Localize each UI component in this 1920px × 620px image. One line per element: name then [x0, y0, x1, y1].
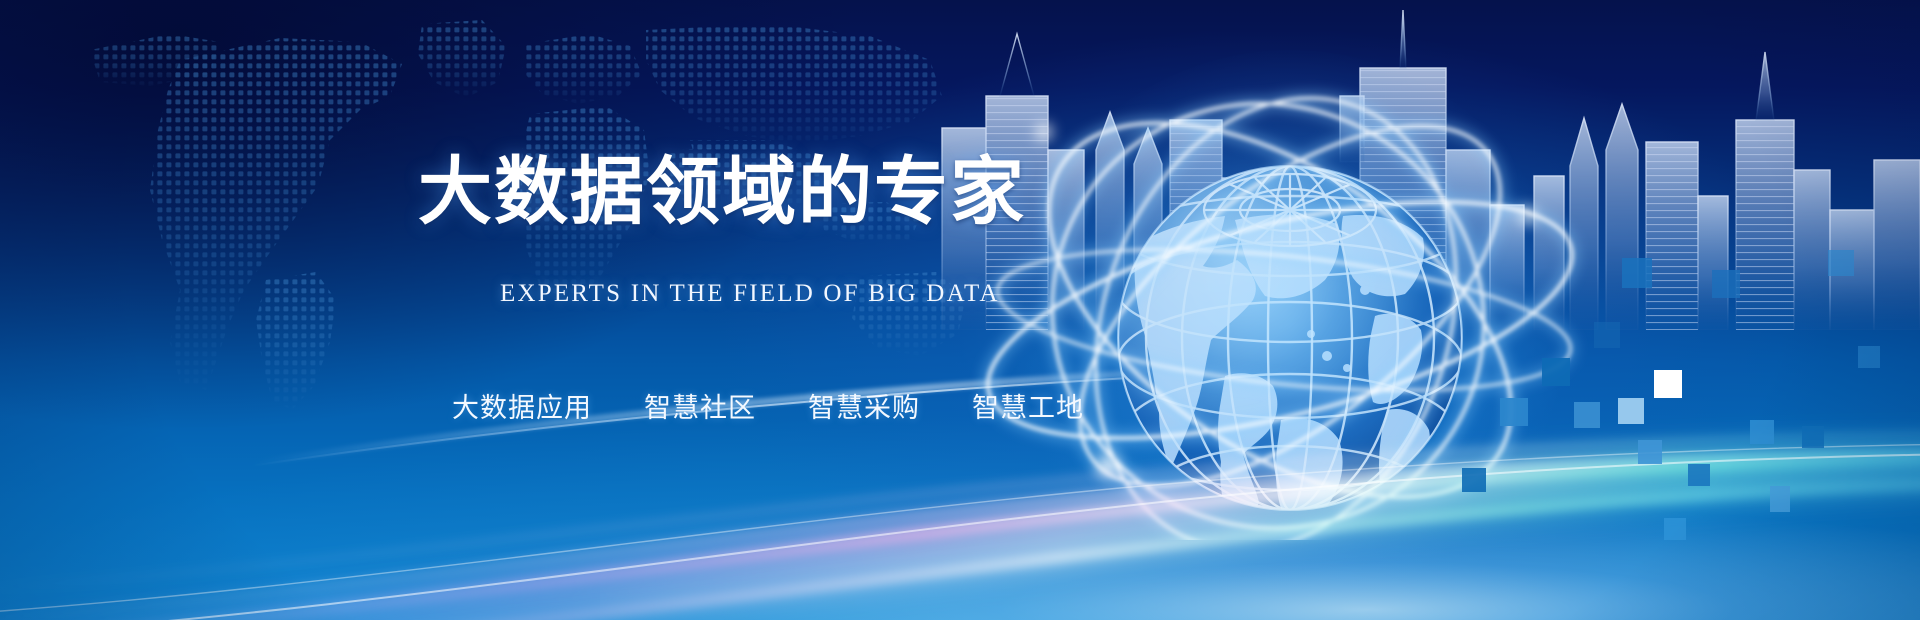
hero-copy: 大数据领域的专家 EXPERTS IN THE FIELD OF BIG DAT… — [0, 0, 1100, 620]
nav-item-smart-procurement[interactable]: 智慧采购 — [808, 386, 920, 425]
page-title: 大数据领域的专家 — [418, 155, 1026, 229]
nav-item-big-data-application[interactable]: 大数据应用 — [452, 386, 592, 425]
floating-squares-icon — [1450, 250, 1920, 580]
hero-nav: 大数据应用 智慧社区 智慧采购 智慧工地 — [452, 386, 1084, 425]
nav-item-smart-community[interactable]: 智慧社区 — [644, 386, 756, 425]
banner-hero: 大数据领域的专家 EXPERTS IN THE FIELD OF BIG DAT… — [0, 0, 1920, 620]
page-subtitle: EXPERTS IN THE FIELD OF BIG DATA — [500, 280, 1000, 308]
nav-item-smart-construction-site[interactable]: 智慧工地 — [972, 386, 1084, 425]
